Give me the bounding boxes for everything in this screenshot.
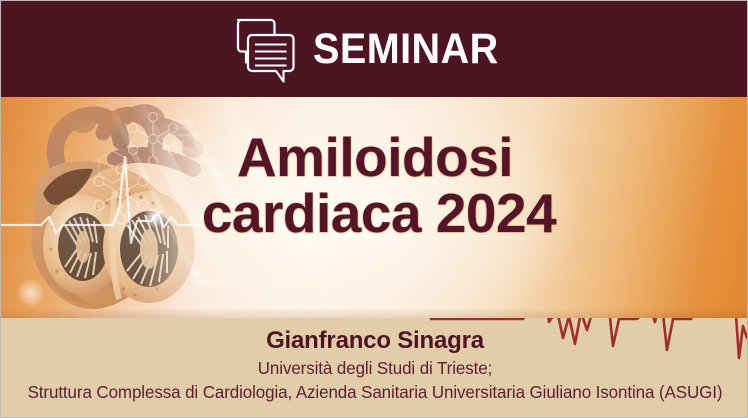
band-shadow (1, 308, 748, 318)
banner-footer: Gianfranco Sinagra Università degli Stud… (1, 318, 748, 418)
glow-dot (144, 206, 166, 228)
banner-header: SEMINAR (1, 1, 748, 97)
tech-overlay-graphics (1, 97, 748, 318)
diagonal-streaks (106, 97, 351, 318)
affiliation-line-1: Università degli Studi di Trieste; (12, 357, 738, 380)
glow-streak (193, 280, 225, 286)
speaker-name: Gianfranco Sinagra (1, 328, 748, 355)
glow-dot (17, 279, 45, 307)
glow-dot (189, 265, 205, 281)
seminar-banner: SEMINAR (0, 0, 748, 418)
affiliation-line-2: Struttura Complessa di Cardiologia, Azie… (12, 381, 738, 404)
seminar-label: SEMINAR (313, 28, 499, 71)
speech-bubbles-icon (235, 17, 297, 83)
artwork-band (1, 97, 748, 318)
